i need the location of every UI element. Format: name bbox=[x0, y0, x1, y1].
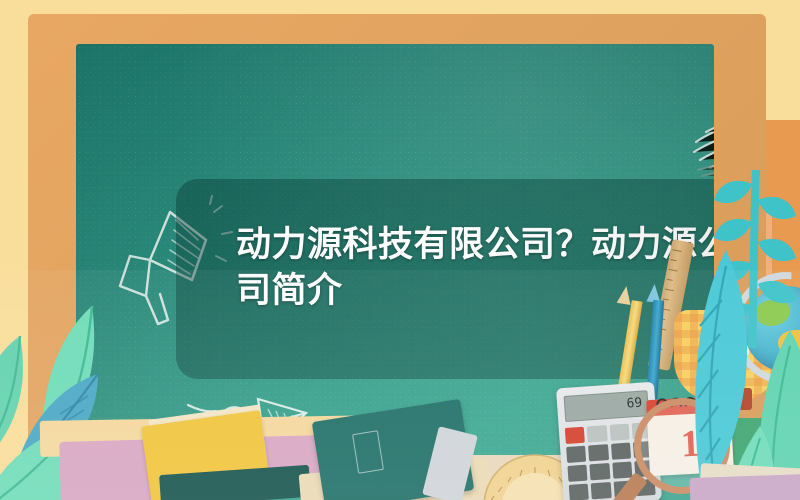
chalk-smudge bbox=[688, 102, 714, 182]
chalkboard-frame: 动力源科技有限公司？动力源公司简介 bbox=[28, 14, 766, 500]
megaphone-doodle bbox=[106, 194, 236, 334]
banner-canvas: 动力源科技有限公司？动力源公司简介 bbox=[0, 0, 800, 500]
chalkboard-surface: 动力源科技有限公司？动力源公司简介 bbox=[76, 44, 714, 500]
title-overlay-panel bbox=[176, 179, 714, 379]
paper-plane-doodle bbox=[186, 389, 316, 459]
page-title: 动力源科技有限公司？动力源公司简介 bbox=[236, 222, 714, 314]
